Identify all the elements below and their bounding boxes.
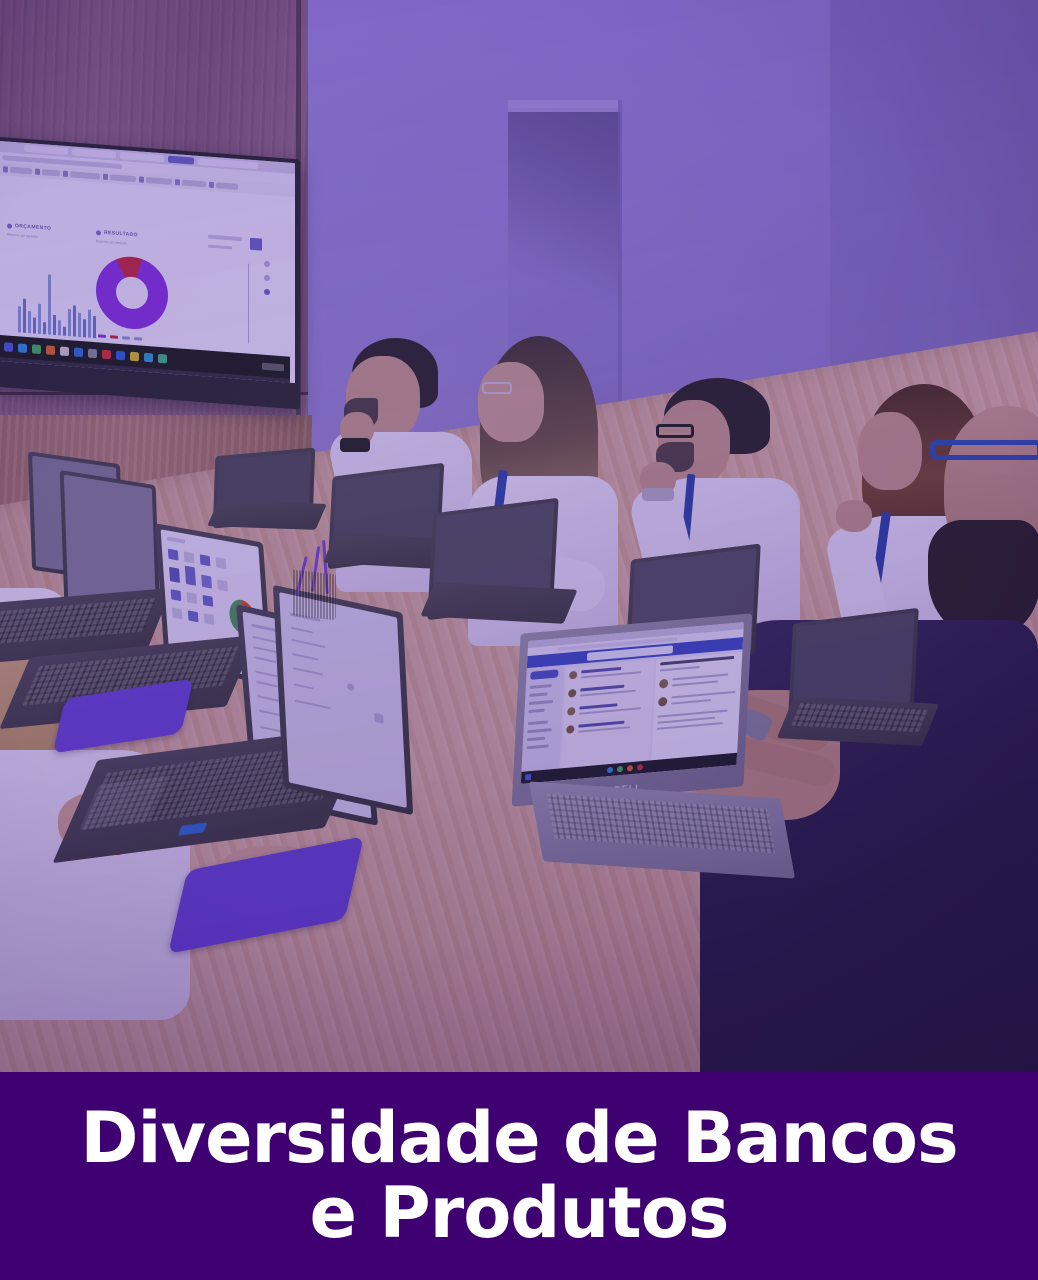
caption-line-2: e Produtos: [310, 1178, 729, 1249]
caption-banner: Diversidade de Bancos e Produtos: [0, 1072, 1038, 1280]
vignette-overlay: [0, 0, 1038, 1072]
caption-line-1: Diversidade de Bancos: [80, 1103, 957, 1174]
promo-card: ORÇAMENTO Resumo por período . . . . . .: [0, 0, 1038, 1280]
scene-photograph: ORÇAMENTO Resumo por período . . . . . .: [0, 0, 1038, 1072]
